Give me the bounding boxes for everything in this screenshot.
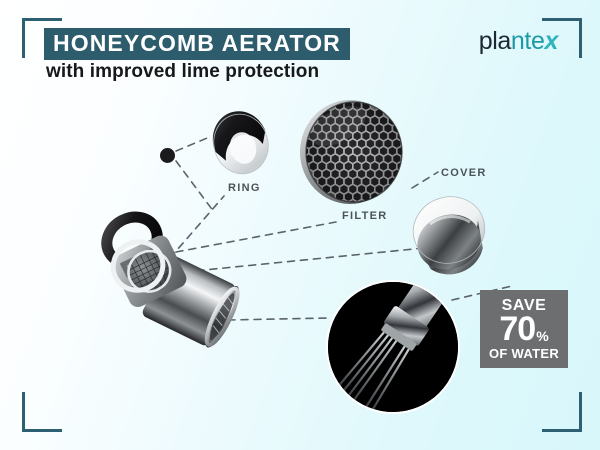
wire-dot-to-ring xyxy=(176,136,212,151)
aerator-main-assembly-image xyxy=(96,208,264,368)
wire-filter-to-cover-label xyxy=(412,172,438,188)
label-ring: RING xyxy=(228,182,261,194)
badge-caption: OF WATER xyxy=(489,347,559,360)
label-filter: FILTER xyxy=(342,210,387,222)
part-filter-honeycomb-image xyxy=(298,96,406,208)
part-cover-image xyxy=(408,190,490,276)
badge-number-row: 70 % xyxy=(499,315,548,344)
save-water-badge: SAVE 70 % OF WATER xyxy=(480,290,568,368)
wire-dot-to-body xyxy=(176,161,214,212)
connector-lines xyxy=(0,0,600,450)
label-cover: COVER xyxy=(441,167,487,179)
callout-dot-marker xyxy=(160,148,175,163)
badge-percent-value: 70 xyxy=(499,315,535,344)
product-infographic: HONEYCOMB AERATOR with improved lime pro… xyxy=(0,0,600,450)
inset-photo-faucet-stream xyxy=(328,282,458,412)
badge-percent-symbol: % xyxy=(536,329,548,343)
part-ring-image xyxy=(210,108,272,178)
